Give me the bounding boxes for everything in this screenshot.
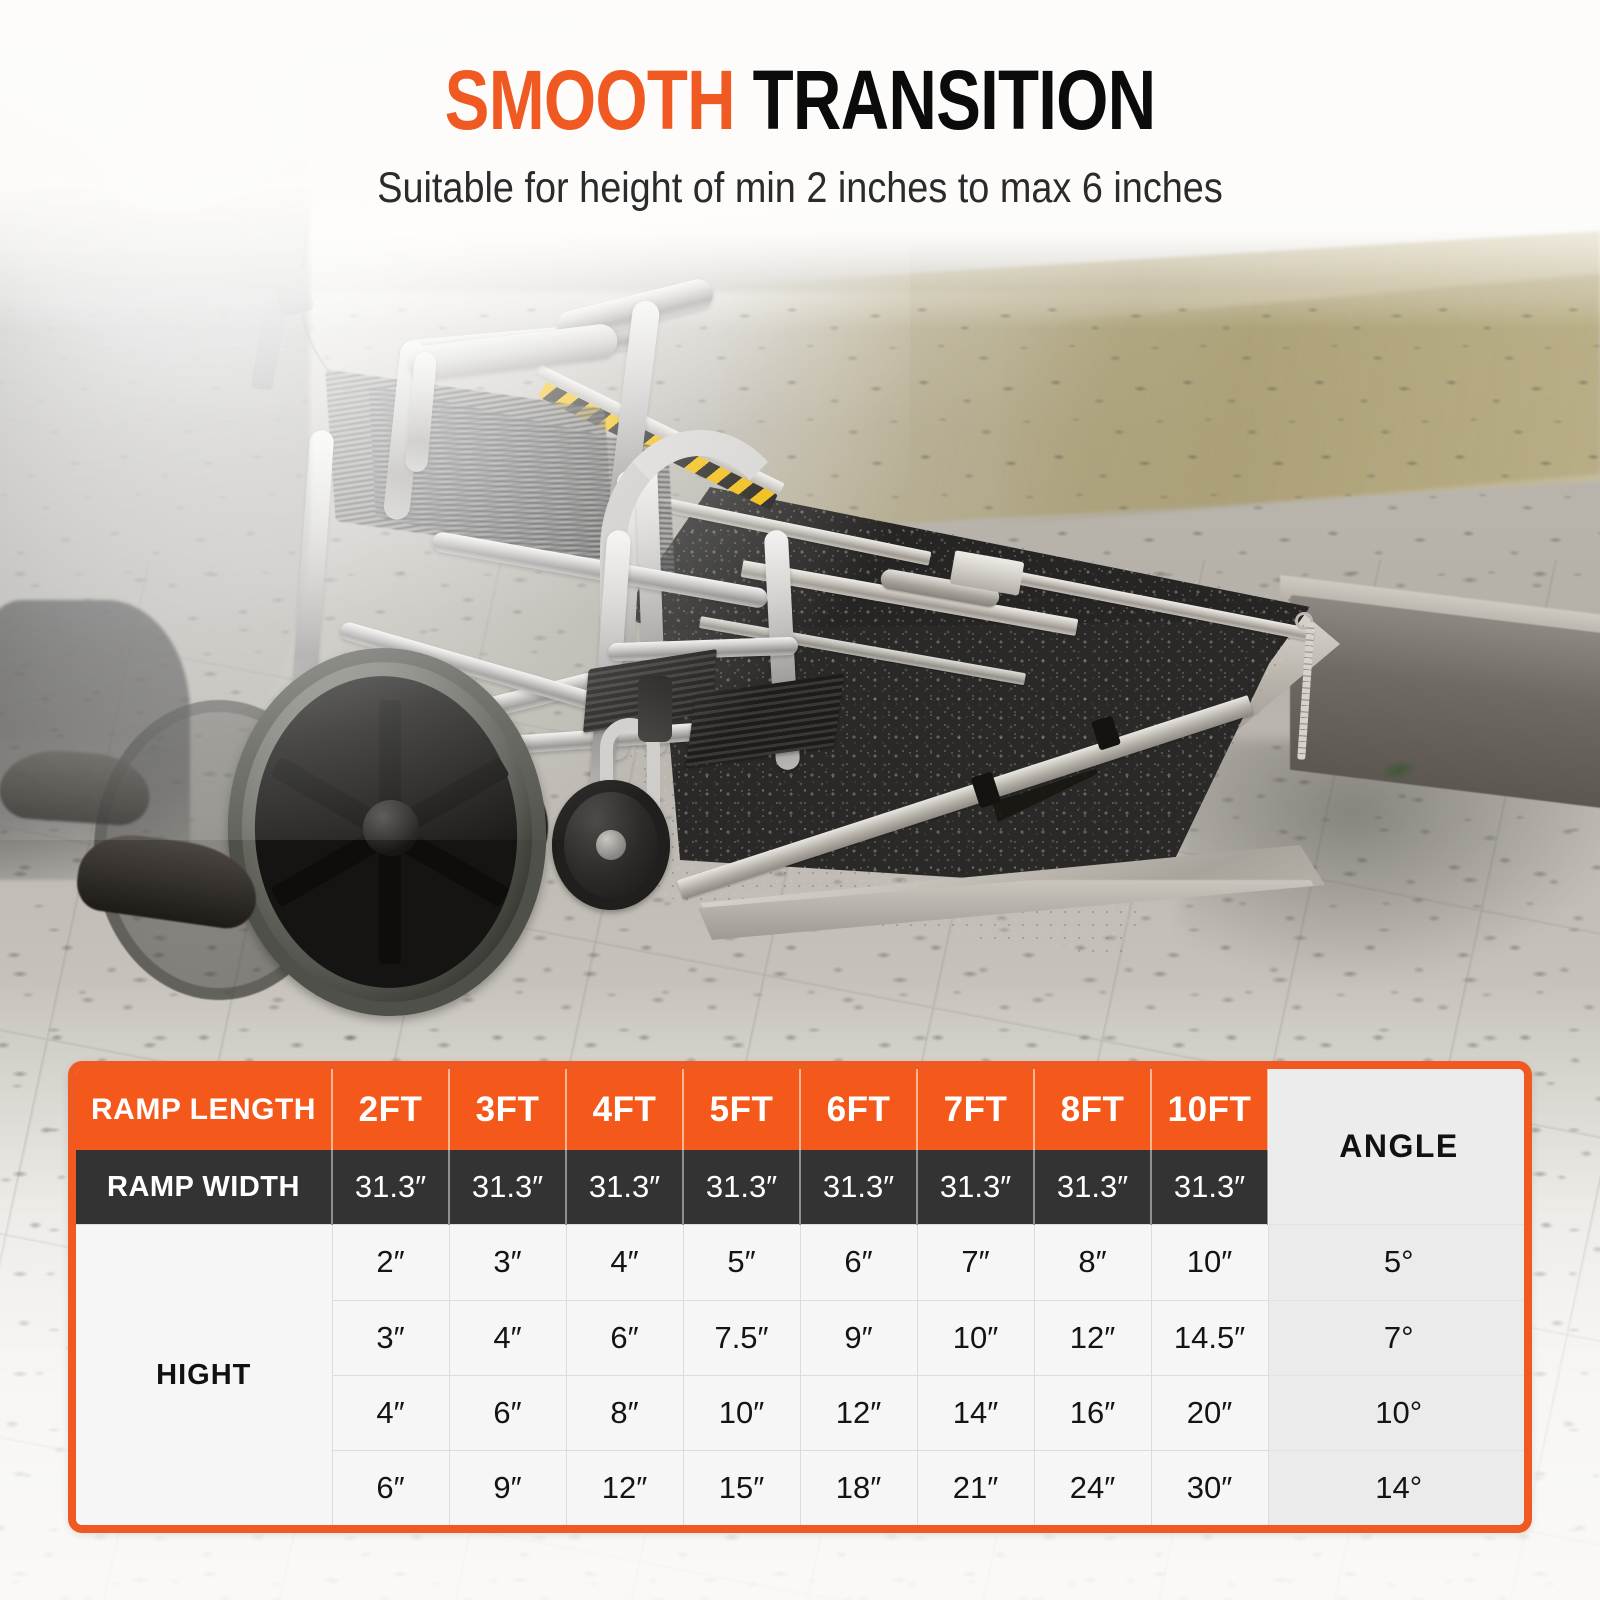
length-6ft: 6FT [800,1069,917,1150]
height-cell: 6″ [566,1300,683,1375]
title-rest: TRANSITION [753,53,1156,147]
height-cell: 7″ [917,1225,1034,1300]
width-2ft: 31.3″ [332,1150,449,1224]
height-cell: 10″ [683,1375,800,1450]
page-title: SMOOTH TRANSITION [160,58,1440,142]
length-7ft: 7FT [917,1069,1034,1150]
height-cell: 15″ [683,1451,800,1525]
width-5ft: 31.3″ [683,1150,800,1224]
header-angle: ANGLE [1268,1069,1529,1225]
height-cell: 8″ [1034,1225,1151,1300]
header-ramp-width: RAMP WIDTH [76,1150,332,1224]
spec-grid: RAMP LENGTH 2FT 3FT 4FT 5FT 6FT 7FT 8FT … [76,1069,1529,1525]
height-cell: 2″ [332,1225,449,1300]
height-cell: 12″ [1034,1300,1151,1375]
product-infographic: SMOOTH TRANSITION Suitable for height of… [0,0,1600,1600]
page-subtitle: Suitable for height of min 2 inches to m… [96,164,1504,213]
height-cell: 18″ [800,1451,917,1525]
height-cell: 20″ [1151,1375,1268,1450]
width-6ft: 31.3″ [800,1150,917,1224]
length-10ft: 10FT [1151,1069,1268,1150]
specification-table: RAMP LENGTH 2FT 3FT 4FT 5FT 6FT 7FT 8FT … [68,1061,1532,1533]
length-3ft: 3FT [449,1069,566,1150]
height-cell: 4″ [332,1375,449,1450]
length-5ft: 5FT [683,1069,800,1150]
height-cell: 6″ [800,1225,917,1300]
angle-cell: 7° [1268,1300,1529,1375]
width-10ft: 31.3″ [1151,1150,1268,1224]
height-cell: 5″ [683,1225,800,1300]
wheel-hub [363,800,419,856]
caster-stem [638,676,672,742]
table-row: HIGHT 2″ 3″ 4″ 5″ 6″ 7″ 8″ 10″ 5° [76,1225,1529,1300]
title-highlight: SMOOTH [445,53,735,147]
headline-block: SMOOTH TRANSITION Suitable for height of… [0,58,1600,213]
length-2ft: 2FT [332,1069,449,1150]
width-8ft: 31.3″ [1034,1150,1151,1224]
height-cell: 12″ [566,1451,683,1525]
height-cell: 14.5″ [1151,1300,1268,1375]
height-cell: 24″ [1034,1451,1151,1525]
height-cell: 7.5″ [683,1300,800,1375]
height-cell: 3″ [332,1300,449,1375]
height-cell: 4″ [566,1225,683,1300]
height-cell: 3″ [449,1225,566,1300]
height-cell: 6″ [332,1451,449,1525]
height-cell: 30″ [1151,1451,1268,1525]
height-cell: 9″ [800,1300,917,1375]
height-cell: 12″ [800,1375,917,1450]
height-cell: 16″ [1034,1375,1151,1450]
height-cell: 4″ [449,1300,566,1375]
angle-cell: 5° [1268,1225,1529,1300]
height-cell: 8″ [566,1375,683,1450]
height-cell: 6″ [449,1375,566,1450]
height-cell: 14″ [917,1375,1034,1450]
table-row-ramp-length: RAMP LENGTH 2FT 3FT 4FT 5FT 6FT 7FT 8FT … [76,1069,1529,1150]
width-3ft: 31.3″ [449,1150,566,1224]
length-8ft: 8FT [1034,1069,1151,1150]
width-4ft: 31.3″ [566,1150,683,1224]
height-cell: 10″ [917,1300,1034,1375]
width-7ft: 31.3″ [917,1150,1034,1224]
header-ramp-length: RAMP LENGTH [76,1069,332,1150]
caster-hub [596,830,626,860]
height-cell: 9″ [449,1451,566,1525]
header-height: HIGHT [76,1225,332,1525]
height-cell: 21″ [917,1451,1034,1525]
length-4ft: 4FT [566,1069,683,1150]
height-cell: 10″ [1151,1225,1268,1300]
angle-cell: 10° [1268,1375,1529,1450]
angle-cell: 14° [1268,1451,1529,1525]
